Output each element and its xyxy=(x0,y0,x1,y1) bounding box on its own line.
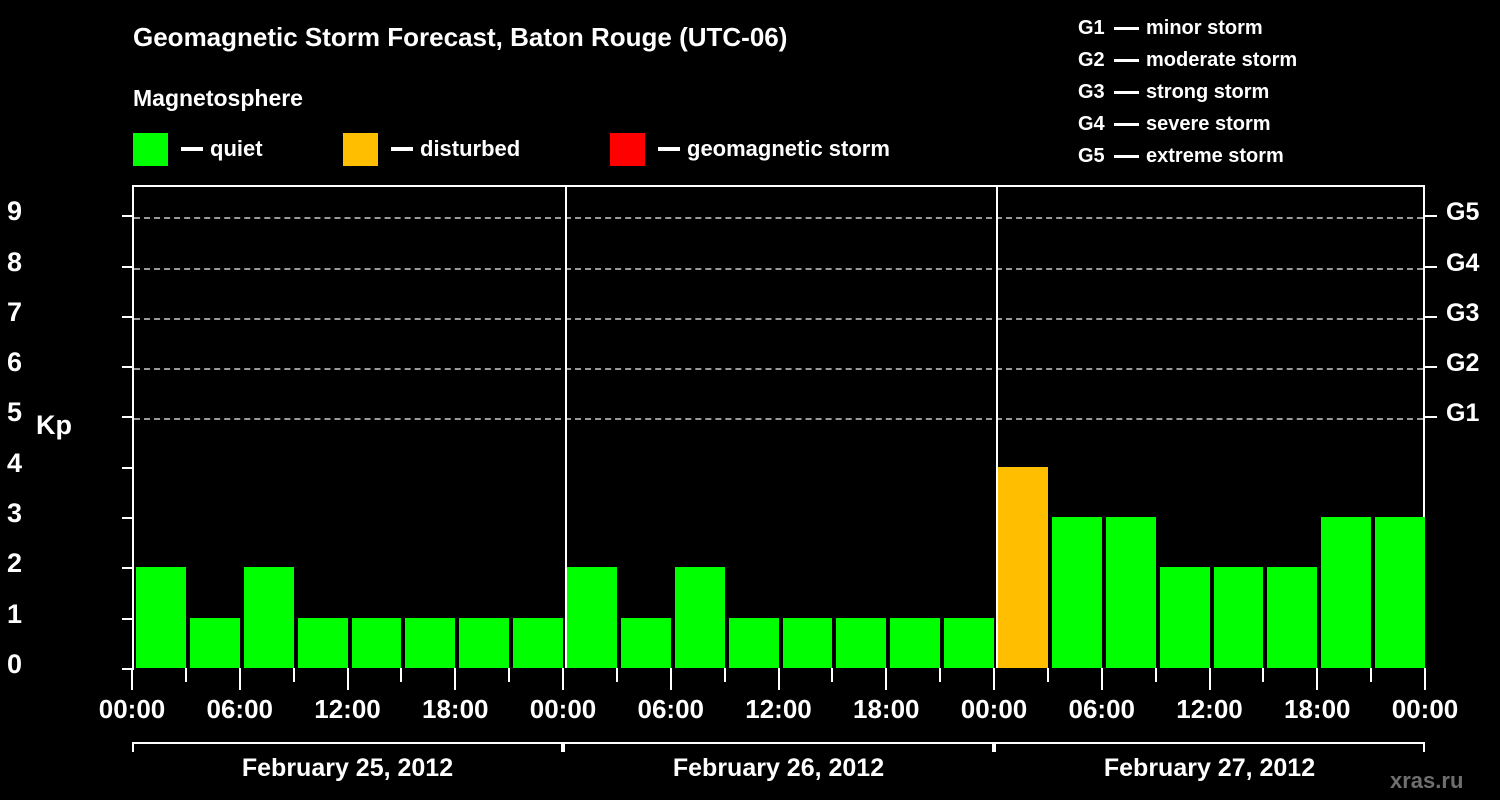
legend-dash-icon xyxy=(181,147,203,151)
x-tick-mark xyxy=(131,668,133,690)
geomagnetic-forecast-chart: Geomagnetic Storm Forecast, Baton Rouge … xyxy=(0,0,1500,800)
x-tick-label: 00:00 xyxy=(1360,694,1490,725)
g-legend-row-g1: G1minor storm xyxy=(1078,12,1297,44)
bar xyxy=(1267,567,1317,668)
x-tick-mark-minor xyxy=(1262,668,1264,682)
g-legend-code: G2 xyxy=(1078,49,1112,72)
legend-label: geomagnetic storm xyxy=(687,136,890,162)
watermark: xras.ru xyxy=(1390,768,1463,794)
legend-swatch-geomagnetic-storm xyxy=(610,133,645,166)
x-tick-mark xyxy=(993,668,995,690)
y-tick-label-3: 3 xyxy=(0,500,22,527)
bar xyxy=(836,618,886,668)
y-tick-label-2: 2 xyxy=(0,550,22,577)
x-tick-mark-minor xyxy=(1155,668,1157,682)
g-tick-label-g2: G2 xyxy=(1446,351,1479,376)
g-legend-description: severe storm xyxy=(1146,113,1271,136)
legend-dash-icon xyxy=(658,147,680,151)
bar xyxy=(890,618,940,668)
bar xyxy=(1160,567,1210,668)
bar xyxy=(998,467,1048,668)
g-tick-mark-g3 xyxy=(1423,316,1437,318)
legend-label: quiet xyxy=(210,136,263,162)
g-tick-mark-g2 xyxy=(1423,366,1437,368)
g-legend-dash-icon xyxy=(1114,27,1139,30)
bar xyxy=(567,567,617,668)
bar xyxy=(405,618,455,668)
legend-swatch-quiet xyxy=(133,133,168,166)
bars-layer xyxy=(134,187,1423,668)
y-tick-label-1: 1 xyxy=(0,601,22,628)
day-bracket xyxy=(994,742,1425,752)
x-tick-mark xyxy=(562,668,564,690)
bar xyxy=(1321,517,1371,668)
x-tick-mark-minor xyxy=(1370,668,1372,682)
day-label: February 27, 2012 xyxy=(994,754,1425,783)
bar xyxy=(298,618,348,668)
bar xyxy=(675,567,725,668)
g-legend-row-g5: G5extreme storm xyxy=(1078,140,1297,172)
x-tick-mark-minor xyxy=(724,668,726,682)
day-label: February 25, 2012 xyxy=(132,754,563,783)
g-scale-legend: G1minor stormG2moderate stormG3strong st… xyxy=(1078,12,1297,172)
legend-item-quiet: quiet xyxy=(133,132,263,166)
plot-area xyxy=(132,185,1425,668)
x-tick-mark xyxy=(885,668,887,690)
g-tick-label-g4: G4 xyxy=(1446,251,1479,276)
g-legend-row-g2: G2moderate storm xyxy=(1078,44,1297,76)
g-legend-code: G1 xyxy=(1078,17,1112,40)
x-tick-mark xyxy=(778,668,780,690)
bar xyxy=(783,618,833,668)
y-tick-label-6: 6 xyxy=(0,349,22,376)
x-tick-mark xyxy=(454,668,456,690)
x-tick-mark xyxy=(239,668,241,690)
g-legend-description: moderate storm xyxy=(1146,49,1297,72)
legend-item-geomagnetic-storm: geomagnetic storm xyxy=(610,132,890,166)
g-legend-code: G5 xyxy=(1078,145,1112,168)
day-bracket xyxy=(563,742,994,752)
g-tick-mark-g4 xyxy=(1423,266,1437,268)
bar xyxy=(190,618,240,668)
g-legend-dash-icon xyxy=(1114,59,1139,62)
bar xyxy=(1375,517,1425,668)
g-tick-label-g3: G3 xyxy=(1446,301,1479,326)
bar xyxy=(352,618,402,668)
page-title: Geomagnetic Storm Forecast, Baton Rouge … xyxy=(133,22,787,53)
y-tick-label-5: 5 xyxy=(0,399,22,426)
g-legend-code: G3 xyxy=(1078,81,1112,104)
bar xyxy=(1214,567,1264,668)
bar xyxy=(1052,517,1102,668)
y-tick-label-8: 8 xyxy=(0,249,22,276)
bar xyxy=(1106,517,1156,668)
x-tick-mark-minor xyxy=(939,668,941,682)
g-legend-dash-icon xyxy=(1114,123,1139,126)
x-tick-mark-minor xyxy=(293,668,295,682)
y-tick-label-7: 7 xyxy=(0,299,22,326)
x-tick-mark xyxy=(670,668,672,690)
x-tick-mark xyxy=(1209,668,1211,690)
bar xyxy=(729,618,779,668)
legend-dash-icon xyxy=(391,147,413,151)
bar xyxy=(244,567,294,668)
day-bracket xyxy=(132,742,563,752)
y-tick-label-4: 4 xyxy=(0,450,22,477)
g-tick-mark-g5 xyxy=(1423,215,1437,217)
g-legend-description: minor storm xyxy=(1146,17,1263,40)
y-tick-label-9: 9 xyxy=(0,198,22,225)
day-label: February 26, 2012 xyxy=(563,754,994,783)
g-tick-label-g5: G5 xyxy=(1446,200,1479,225)
x-tick-mark xyxy=(1316,668,1318,690)
x-tick-mark xyxy=(1424,668,1426,690)
x-tick-mark-minor xyxy=(185,668,187,682)
bar xyxy=(136,567,186,668)
x-tick-mark-minor xyxy=(831,668,833,682)
x-tick-mark-minor xyxy=(400,668,402,682)
bar xyxy=(944,618,994,668)
legend-swatch-disturbed xyxy=(343,133,378,166)
g-legend-code: G4 xyxy=(1078,113,1112,136)
x-tick-mark xyxy=(1101,668,1103,690)
x-tick-mark-minor xyxy=(1047,668,1049,682)
legend-label: disturbed xyxy=(420,136,520,162)
bar xyxy=(513,618,563,668)
bar xyxy=(459,618,509,668)
g-legend-row-g3: G3strong storm xyxy=(1078,76,1297,108)
magnetosphere-label: Magnetosphere xyxy=(133,85,303,112)
y-tick-label-0: 0 xyxy=(0,651,22,678)
g-legend-description: extreme storm xyxy=(1146,145,1284,168)
x-tick-mark xyxy=(347,668,349,690)
g-legend-row-g4: G4severe storm xyxy=(1078,108,1297,140)
legend-item-disturbed: disturbed xyxy=(343,132,520,166)
g-tick-label-g1: G1 xyxy=(1446,401,1479,426)
g-legend-description: strong storm xyxy=(1146,81,1269,104)
y-axis-title: Kp xyxy=(36,410,72,441)
g-legend-dash-icon xyxy=(1114,91,1139,94)
bar xyxy=(621,618,671,668)
x-tick-mark-minor xyxy=(616,668,618,682)
x-tick-mark-minor xyxy=(508,668,510,682)
g-legend-dash-icon xyxy=(1114,155,1139,158)
g-tick-mark-g1 xyxy=(1423,416,1437,418)
